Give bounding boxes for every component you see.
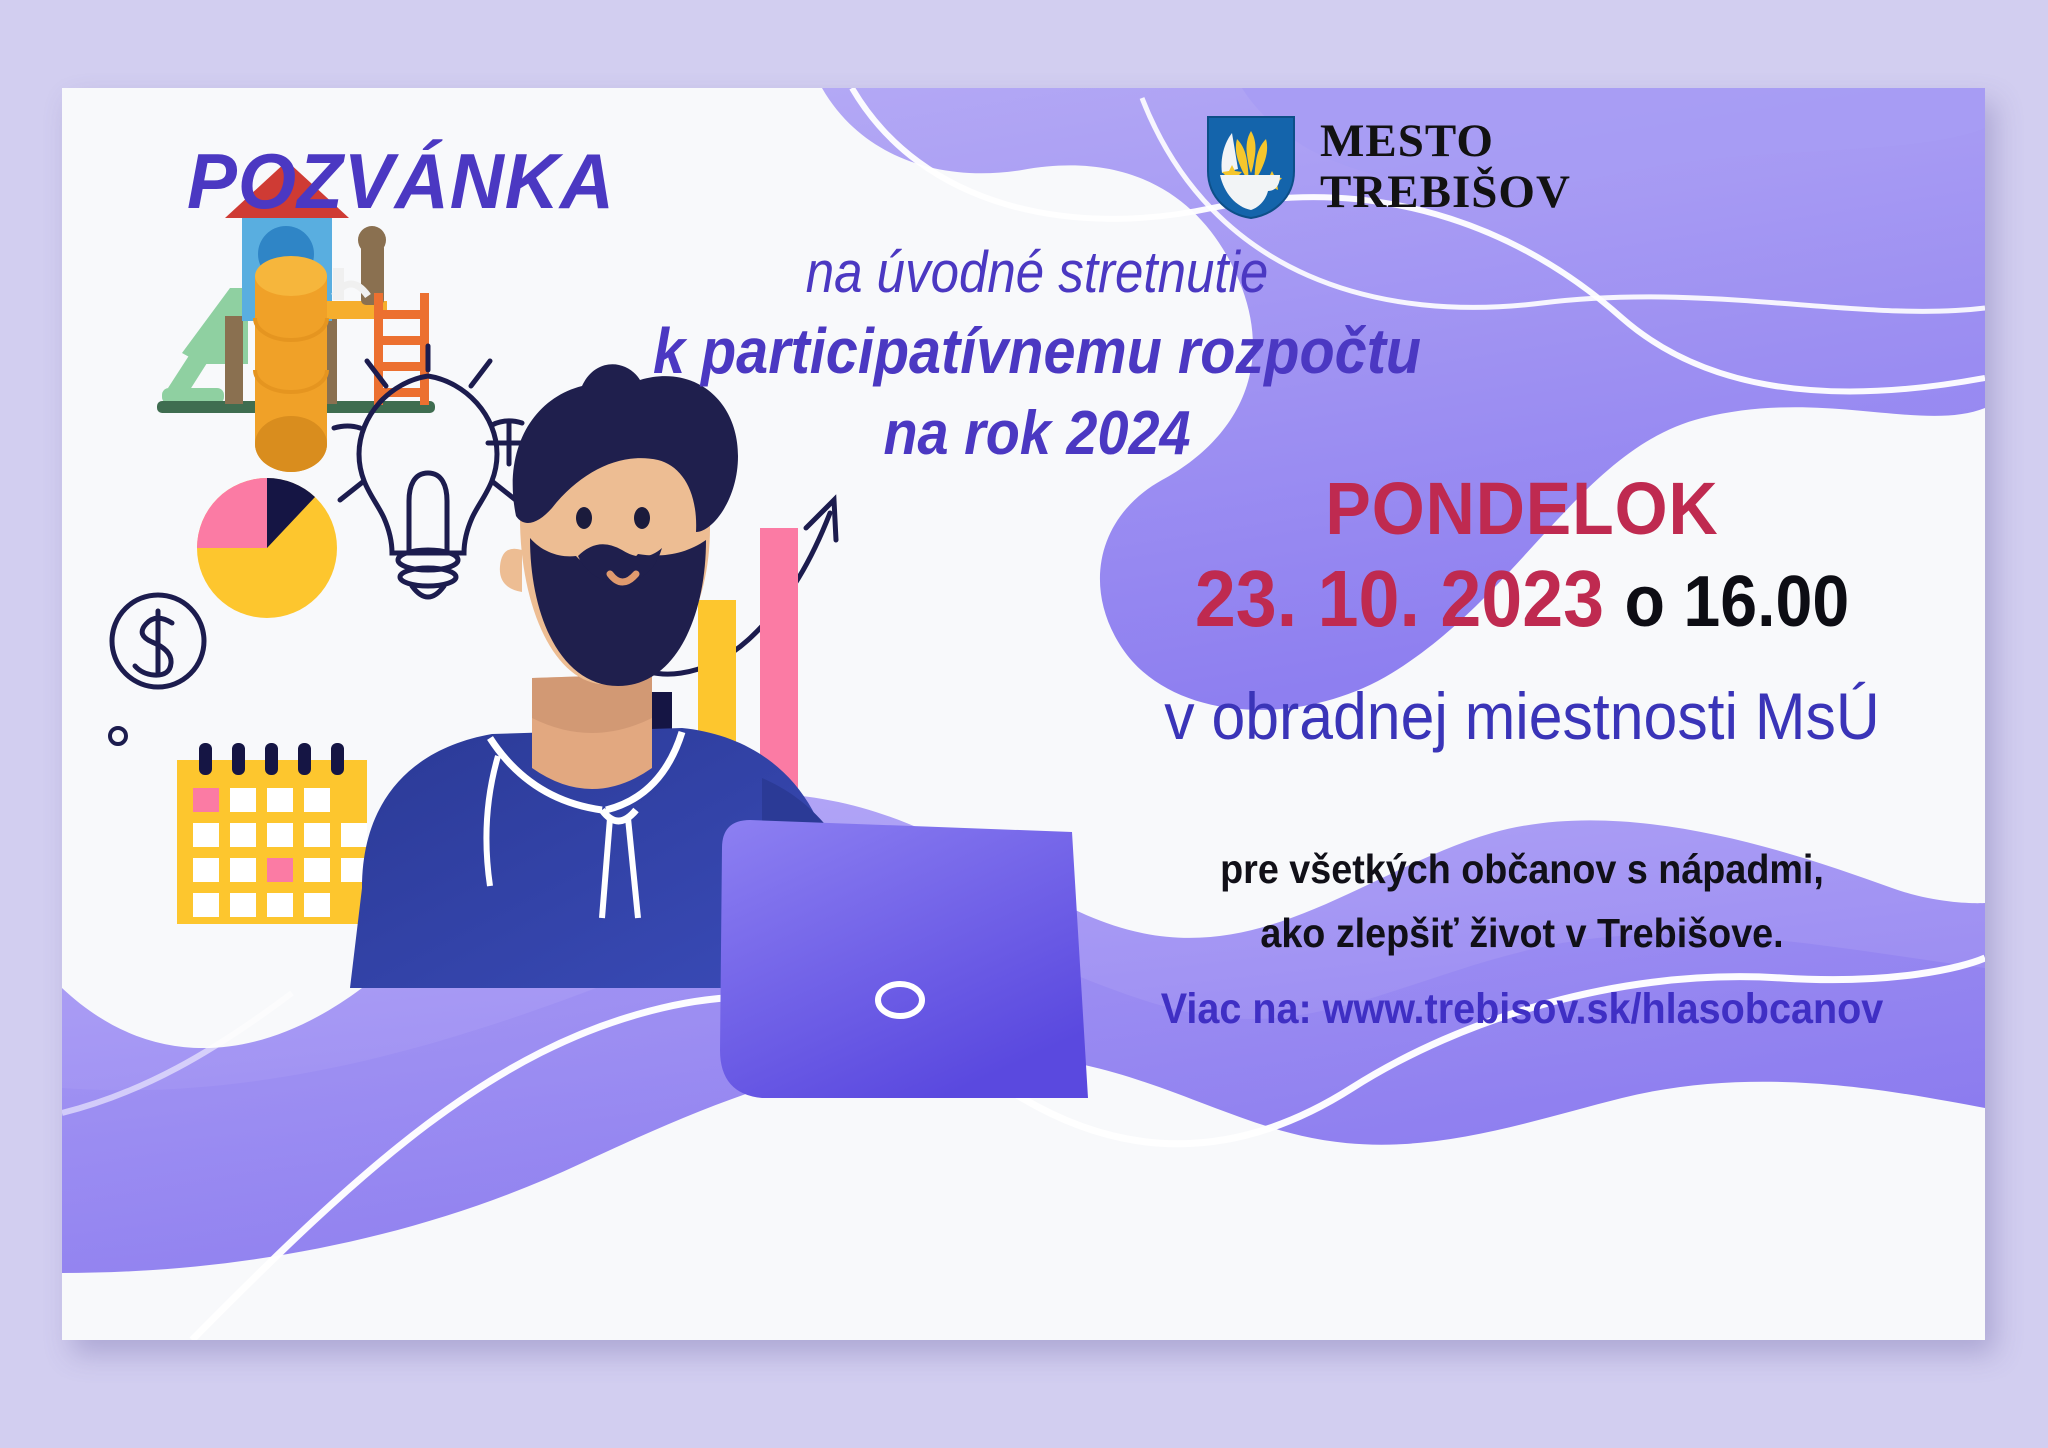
city-logo-text: MESTO TREBIŠOV — [1320, 116, 1571, 218]
headline-line-2: k participatívnemu rozpočtu — [538, 310, 1537, 393]
dollar-coin-icon — [112, 595, 204, 687]
calendar-highlight-1 — [193, 788, 219, 812]
page-title: POZVÁNKA — [187, 136, 615, 227]
footer-block: pre všetkých občanov s nápadmi, ako zlep… — [1067, 838, 1977, 1042]
footer-url[interactable]: Viac na: www.trebisov.sk/hlasobcanov — [1103, 977, 1940, 1042]
footer-line-1: pre všetkých občanov s nápadmi, — [1103, 838, 1940, 902]
event-day-of-week: PONDELOK — [1108, 468, 1936, 549]
footer-line-2: ako zlepšiť život v Trebišove. — [1103, 902, 1940, 966]
calendar-highlight-2 — [267, 858, 293, 882]
headline-block: na úvodné stretnutie k participatívnemu … — [482, 243, 1592, 473]
event-venue: v obradnej miestnosti MsÚ — [1108, 678, 1936, 754]
event-date-block: PONDELOK 23. 10. 2023 o 16.00 — [1072, 468, 1972, 645]
trebisov-coat-of-arms-icon — [1204, 113, 1298, 221]
small-circle-decoration-icon-2 — [110, 728, 126, 744]
laptop-icon — [720, 820, 1088, 1098]
event-date: 23. 10. 2023 — [1195, 554, 1604, 643]
city-logo: MESTO TREBIŠOV — [1204, 113, 1571, 221]
logo-line-2: TREBIŠOV — [1320, 167, 1571, 218]
event-time: o 16.00 — [1625, 562, 1850, 642]
event-date-time: 23. 10. 2023 o 16.00 — [1108, 553, 1936, 645]
logo-line-1: MESTO — [1320, 116, 1571, 167]
calendar-icon — [177, 743, 367, 924]
poster-canvas: MESTO TREBIŠOV POZVÁNKA na úvodné stretn… — [62, 88, 1985, 1340]
headline-line-3: na rok 2024 — [538, 395, 1537, 473]
headline-line-1: na úvodné stretnutie — [549, 243, 1526, 304]
pie-chart-icon — [197, 478, 337, 618]
